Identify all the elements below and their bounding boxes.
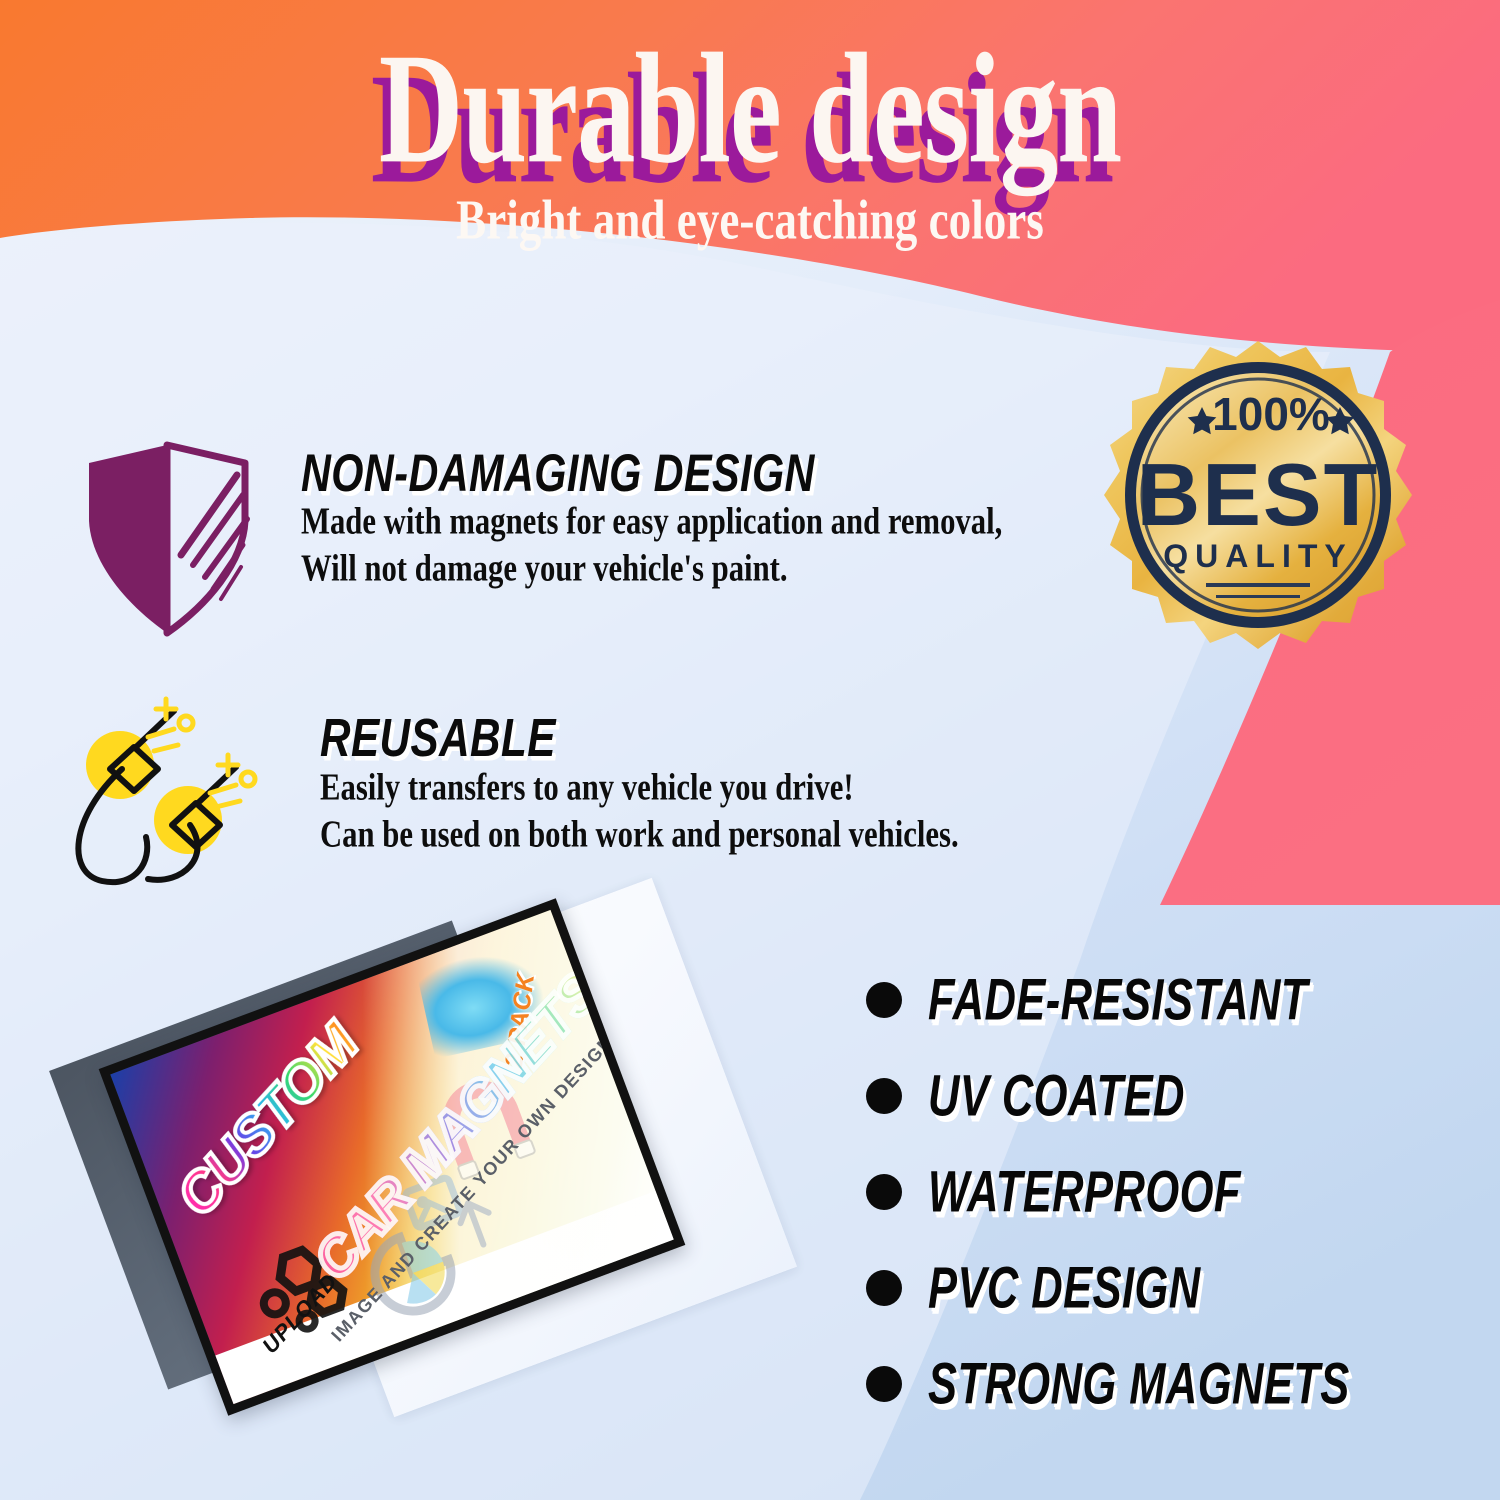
feature-heading: NON-DAMAGING DESIGN xyxy=(301,444,965,502)
product-image: 2 PACK xyxy=(40,930,840,1450)
bullet-dot-icon xyxy=(866,982,902,1018)
feature-line: Will not damage your vehicle's paint. xyxy=(301,542,1002,597)
list-item: STRONG MAGNETS xyxy=(866,1336,1486,1432)
bullet-dot-icon xyxy=(866,1270,902,1306)
bullet-label: WATERPROOF xyxy=(928,1161,1241,1224)
feature-text-block: NON-DAMAGING DESIGN Made with magnets fo… xyxy=(301,437,1055,593)
page-title: Durable design Durable design xyxy=(0,30,1500,180)
shield-scratch-lines xyxy=(181,475,247,599)
page-subtitle: Bright and eye-catching colors xyxy=(30,193,1470,249)
bullet-label: UV COATED xyxy=(928,1065,1185,1128)
bullet-dot-icon xyxy=(866,1174,902,1210)
bullet-label: PVC DESIGN xyxy=(928,1257,1201,1320)
shield-icon xyxy=(75,437,271,647)
best-quality-badge: 100% BEST QUALITY xyxy=(1098,335,1418,655)
header: Durable design Durable design Bright and… xyxy=(0,0,1500,280)
list-item: FADE-RESISTANT xyxy=(866,952,1486,1048)
list-item: WATERPROOF xyxy=(866,1144,1486,1240)
bullet-dot-icon xyxy=(866,1366,902,1402)
feature-bullet-list: FADE-RESISTANT UV COATED WATERPROOF PVC … xyxy=(866,952,1486,1432)
feature-line: Can be used on both work and personal ve… xyxy=(320,808,959,863)
bullet-label: FADE-RESISTANT xyxy=(928,969,1308,1032)
feature-reusable: REUSABLE Easily transfers to any vehicle… xyxy=(62,685,1007,895)
list-item: PVC DESIGN xyxy=(866,1240,1486,1336)
feature-text-block: REUSABLE Easily transfers to any vehicle… xyxy=(320,685,1007,859)
feature-heading: REUSABLE xyxy=(320,710,924,768)
feature-non-damaging-design: NON-DAMAGING DESIGN Made with magnets fo… xyxy=(75,437,1055,647)
page-title-main: Durable design xyxy=(8,30,1493,188)
card-title-custom: CUSTOM xyxy=(163,1011,370,1229)
badge-main-label: BEST xyxy=(1137,445,1380,544)
bullet-label: STRONG MAGNETS xyxy=(928,1353,1350,1416)
badge-percent: 100% xyxy=(1212,388,1330,440)
badge-underline-2 xyxy=(1216,595,1300,598)
list-item: UV COATED xyxy=(866,1048,1486,1144)
badge-underline-1 xyxy=(1206,583,1310,587)
infographic-canvas: Durable design Durable design Bright and… xyxy=(0,0,1500,1500)
magnet-icon xyxy=(62,685,282,895)
badge-graphic: 100% BEST QUALITY xyxy=(1098,335,1418,655)
badge-sub-label: QUALITY xyxy=(1163,538,1352,574)
bullet-dot-icon xyxy=(866,1078,902,1114)
